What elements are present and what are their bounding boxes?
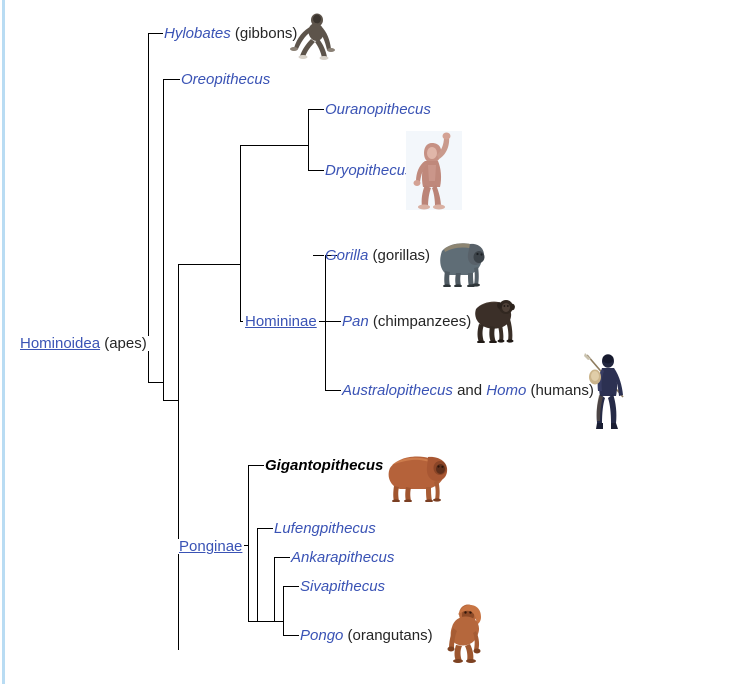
- branch-line-crown: [240, 145, 241, 321]
- taxon-sci-lufengpithecus[interactable]: Lufengpithecus: [274, 520, 376, 537]
- taxon-connector-icon: [262, 528, 273, 529]
- taxon-connector-icon: [313, 109, 324, 110]
- human-figure: [578, 351, 634, 431]
- taxon-sci-australopithecus[interactable]: Australopithecus: [342, 382, 453, 399]
- branch-line-ponginae: [248, 465, 249, 621]
- taxon-label-ouranopithecus[interactable]: Ouranopithecus: [313, 102, 431, 117]
- clade-label-ponginae[interactable]: Ponginae: [177, 539, 244, 554]
- taxon-conjunction-and: and: [453, 382, 486, 399]
- branch-join-ankarapithecus: [257, 621, 275, 622]
- gigantopithecus-figure: [382, 446, 452, 502]
- taxon-sci-ouranopithecus[interactable]: Ouranopithecus: [325, 101, 431, 118]
- taxon-sci-ankarapithecus[interactable]: Ankarapithecus: [291, 549, 394, 566]
- branch-stem-crown: [178, 264, 240, 265]
- clade-link-homininae[interactable]: Homininae: [245, 313, 317, 330]
- chimpanzee-figure: [468, 291, 520, 343]
- taxon-connector-icon: [330, 390, 341, 391]
- taxon-label-australopithecus-homo[interactable]: Australopithecus and Homo (humans): [330, 383, 594, 398]
- branch-line-lufengpithecus: [257, 528, 258, 621]
- taxon-label-pongo[interactable]: Pongo (orangutans): [288, 628, 433, 643]
- gorilla-figure: [432, 231, 488, 287]
- taxon-connector-icon: [313, 170, 324, 171]
- taxon-sci-homo[interactable]: Homo: [486, 382, 526, 399]
- taxon-label-lufengpithecus[interactable]: Lufengpithecus: [262, 521, 376, 536]
- branch-line-root-mid: [163, 79, 164, 400]
- branch-join-sivapithecus: [274, 621, 284, 622]
- branch-line-homininae: [325, 255, 326, 390]
- branch-line-sivapithecus: [283, 586, 284, 635]
- clade-label-homininae[interactable]: Homininae: [243, 314, 319, 329]
- branch-stem-dryopithecini: [240, 145, 308, 146]
- taxon-connector-icon: [253, 465, 264, 466]
- clade-link-ponginae[interactable]: Ponginae: [179, 538, 242, 555]
- gibbon-figure: [287, 8, 339, 60]
- taxon-label-oreopithecus[interactable]: Oreopithecus: [169, 72, 270, 87]
- clade-common-hominoidea: (apes): [100, 335, 147, 352]
- taxon-common-pongo: (orangutans): [343, 627, 432, 644]
- hominoidea-cladogram: Hominoidea (apes) Homininae Ponginae Hyl…: [0, 0, 742, 684]
- clade-label-hominoidea[interactable]: Hominoidea (apes): [18, 336, 149, 351]
- taxon-sci-pan[interactable]: Pan: [342, 313, 369, 330]
- taxon-connector-icon: [288, 635, 299, 636]
- taxon-connector-icon: [330, 321, 341, 322]
- taxon-common-pan: (chimpanzees): [369, 313, 472, 330]
- taxon-sci-oreopithecus[interactable]: Oreopithecus: [181, 71, 270, 88]
- taxon-label-hylobates[interactable]: Hylobates (gibbons): [152, 26, 297, 41]
- taxon-sci-gorilla[interactable]: Gorilla: [325, 247, 368, 264]
- taxon-label-sivapithecus[interactable]: Sivapithecus: [288, 579, 385, 594]
- taxon-sci-hylobates[interactable]: Hylobates: [164, 25, 231, 42]
- taxon-label-pan[interactable]: Pan (chimpanzees): [330, 314, 471, 329]
- branch-line-root-inner: [178, 264, 179, 650]
- taxon-sci-sivapithecus[interactable]: Sivapithecus: [300, 578, 385, 595]
- taxon-label-dryopithecus[interactable]: Dryopithecus: [313, 163, 413, 178]
- taxon-connector-icon: [169, 79, 180, 80]
- branch-join-mid: [163, 400, 179, 401]
- taxon-connector-icon: [288, 586, 299, 587]
- taxon-common-gorilla: (gorillas): [368, 247, 430, 264]
- taxon-label-gorilla[interactable]: Gorilla (gorillas): [313, 248, 430, 263]
- branch-line-ankarapithecus: [274, 557, 275, 621]
- taxon-connector-icon: [279, 557, 290, 558]
- taxon-connector-icon: [313, 255, 324, 256]
- clade-link-hominoidea[interactable]: Hominoidea: [20, 335, 100, 352]
- taxon-label-gigantopithecus: Gigantopithecus: [253, 458, 383, 473]
- taxon-connector-icon: [152, 33, 163, 34]
- branch-line-root-outer: [148, 33, 149, 382]
- branch-line-dryopithecini: [308, 109, 309, 170]
- taxon-sci-dryopithecus[interactable]: Dryopithecus: [325, 162, 413, 179]
- branch-join-outer: [148, 382, 164, 383]
- orangutan-figure: [432, 601, 488, 663]
- taxon-sci-gigantopithecus: Gigantopithecus: [265, 457, 383, 474]
- taxon-sci-pongo[interactable]: Pongo: [300, 627, 343, 644]
- taxon-label-ankarapithecus[interactable]: Ankarapithecus: [279, 550, 394, 565]
- dryopithecus-figure: [406, 131, 462, 210]
